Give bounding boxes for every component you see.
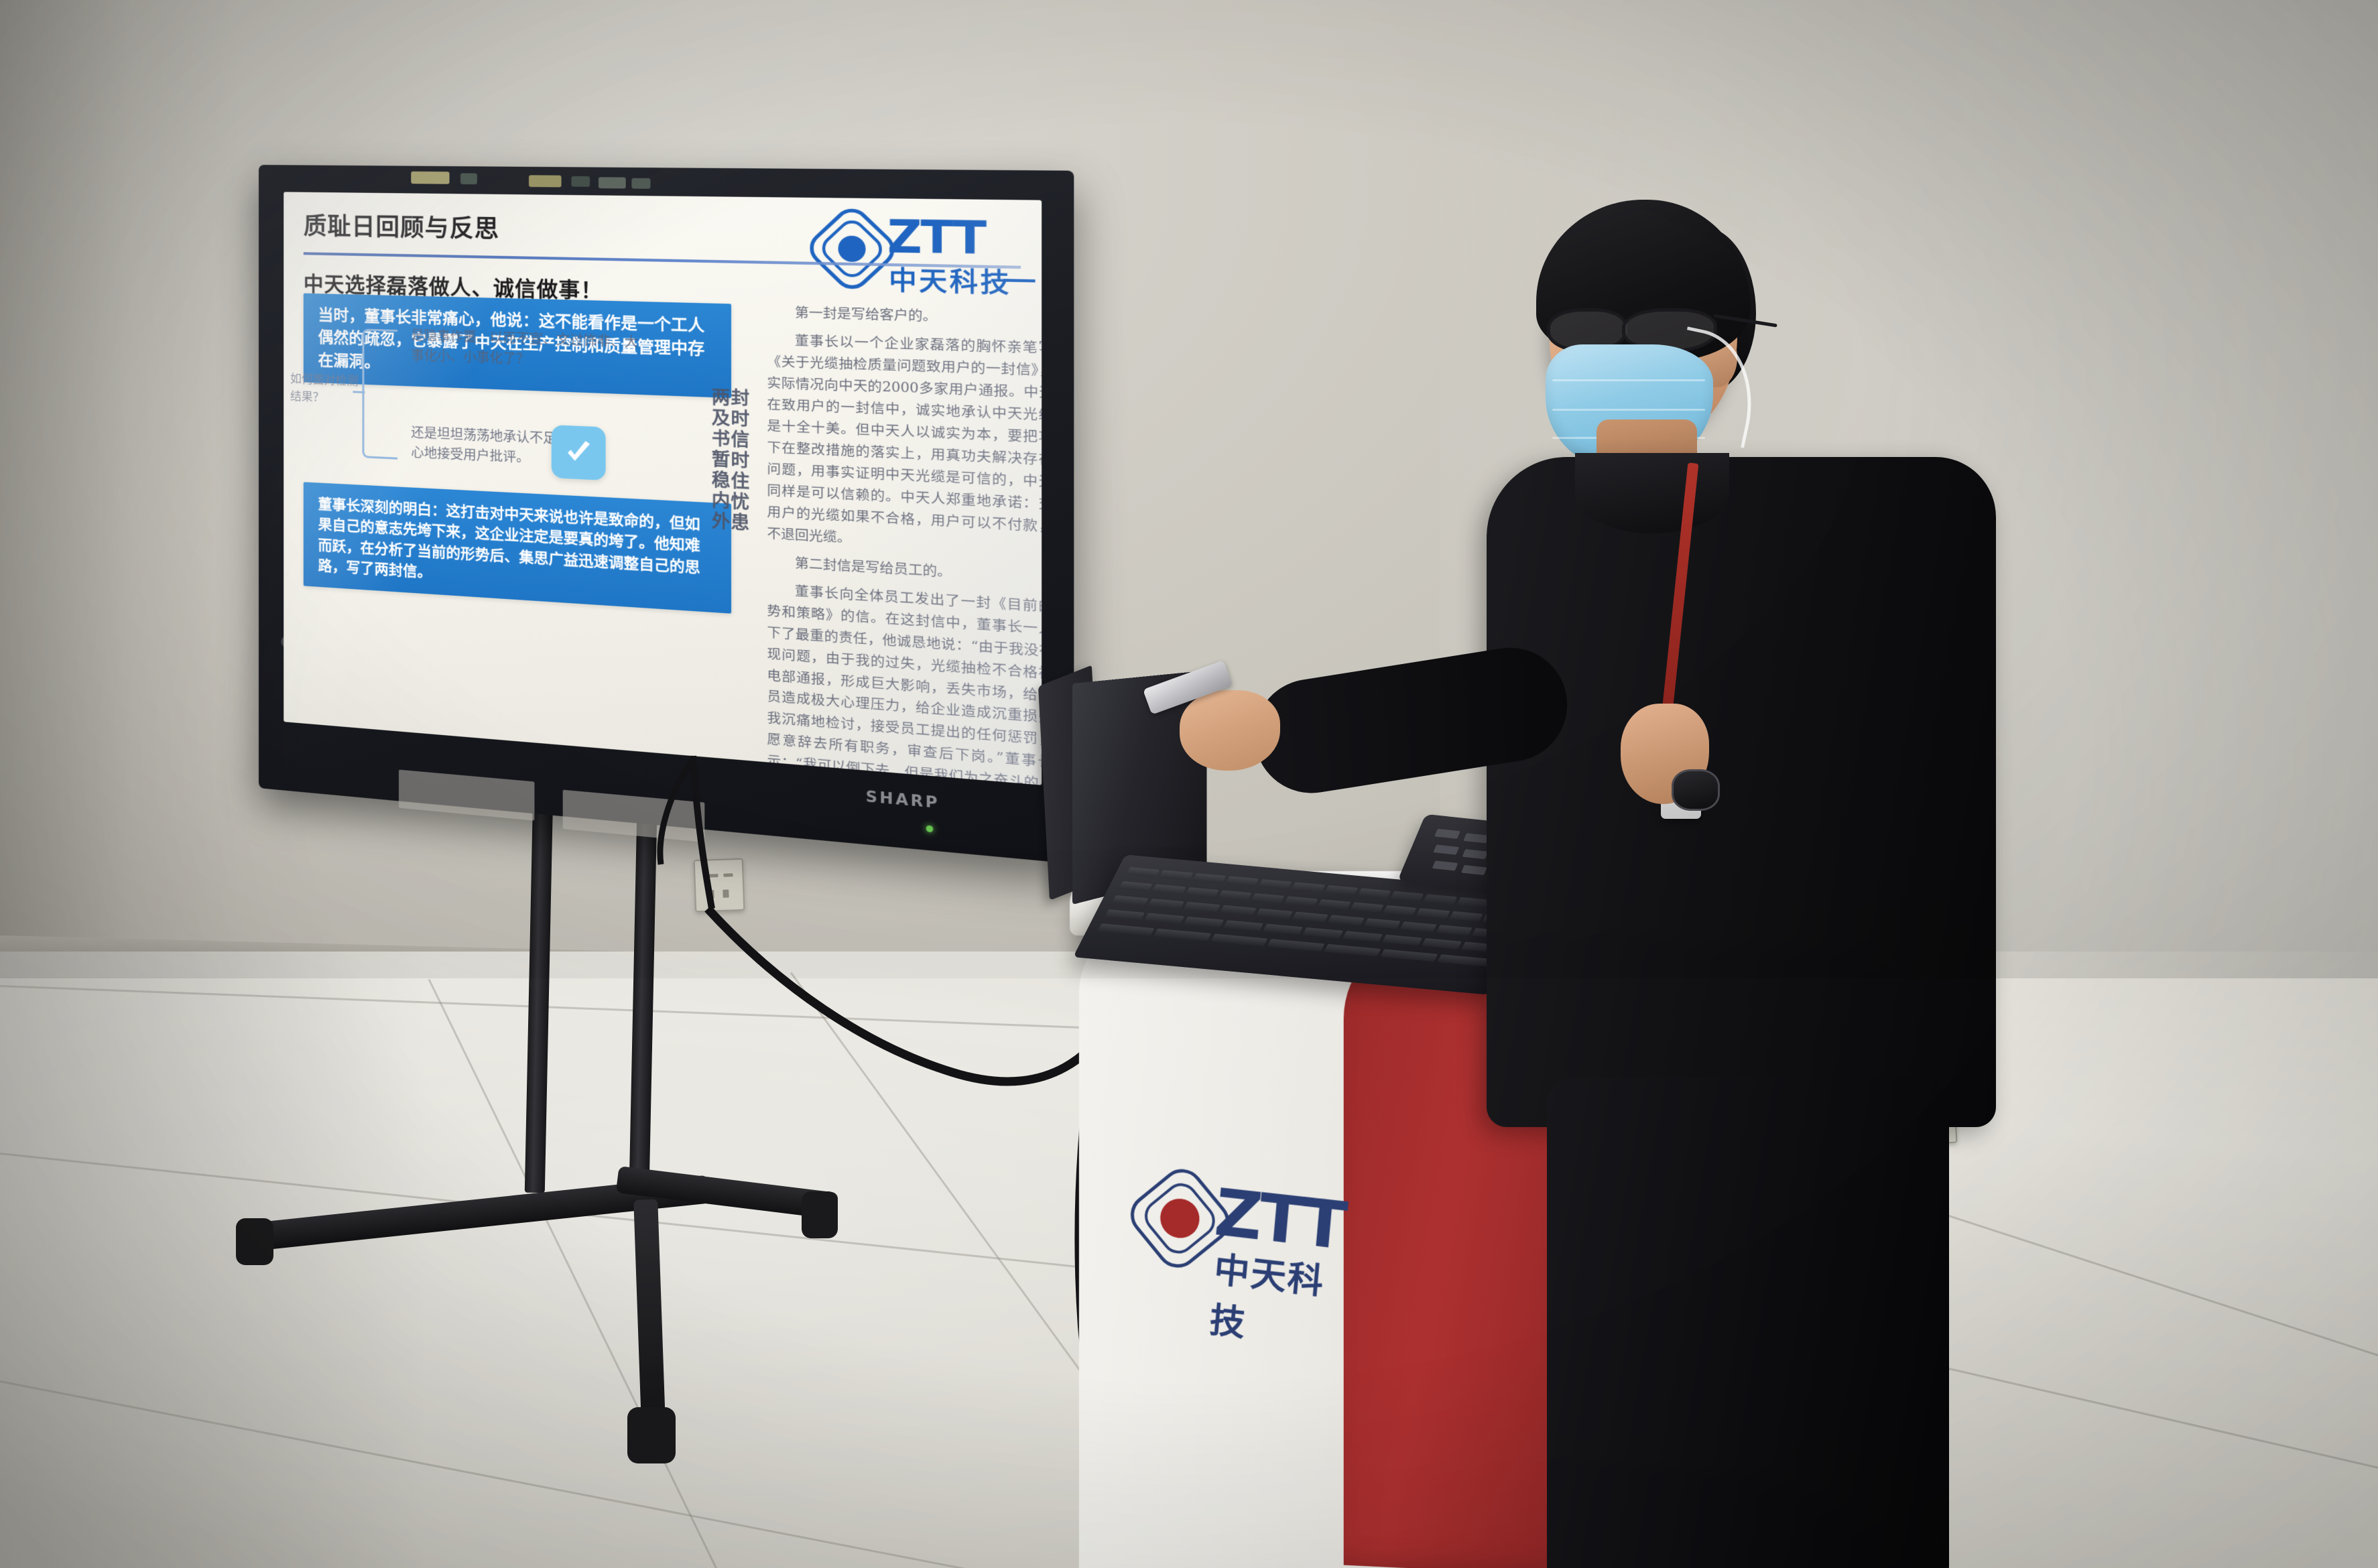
- cart-caster: [627, 1407, 676, 1463]
- photo-scene: 质耻日回顾与反思 ZTT 中天科技 中天选择磊落做人、诚信做事！ 当时，董事长非…: [0, 0, 2378, 1568]
- ztt-emblem-icon: [1135, 1173, 1225, 1264]
- cart-caster: [236, 1218, 273, 1265]
- cart-caster: [802, 1191, 838, 1238]
- podium-chinese-name: 中天科技: [1208, 1241, 1361, 1359]
- wall-vignette: [0, 0, 2378, 978]
- trousers: [1547, 1077, 1949, 1568]
- podium-ztt-logo: ZTT 中天科技: [1125, 1166, 1367, 1394]
